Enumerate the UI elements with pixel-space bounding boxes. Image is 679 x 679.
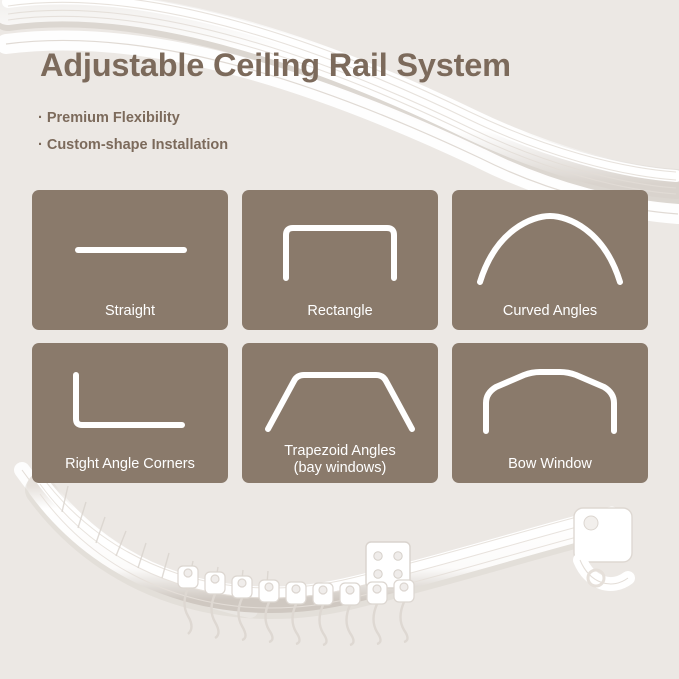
shape-card-curved-angles[interactable]: Curved Angles [452, 190, 648, 330]
product-infographic: Adjustable Ceiling Rail System · Premium… [0, 0, 679, 679]
shape-card-label: Bow Window [452, 456, 648, 473]
bottom-rail [22, 470, 632, 645]
shape-card-label: Curved Angles [452, 303, 648, 320]
shape-card-label: Rectangle [242, 303, 438, 320]
feature-bullet-2: · Custom-shape Installation [38, 137, 228, 153]
top-rail [6, 0, 678, 214]
shape-options-grid: Straight Rectangle Curved Angles Right A… [32, 190, 648, 483]
shape-card-straight[interactable]: Straight [32, 190, 228, 330]
shape-card-label: Right Angle Corners [32, 456, 228, 473]
shape-card-bow-window[interactable]: Bow Window [452, 343, 648, 483]
shape-card-rectangle[interactable]: Rectangle [242, 190, 438, 330]
center-mounting-bracket [366, 542, 410, 588]
shape-card-right-angle-corners[interactable]: Right Angle Corners [32, 343, 228, 483]
feature-bullet-1: · Premium Flexibility [38, 110, 180, 126]
shape-card-trapezoid-angles[interactable]: Trapezoid Angles (bay windows) [242, 343, 438, 483]
shape-card-label: Trapezoid Angles (bay windows) [242, 443, 438, 477]
rail-carriers [178, 566, 414, 605]
rail-end-cap [574, 508, 632, 586]
page-title: Adjustable Ceiling Rail System [40, 47, 511, 84]
shape-card-label: Straight [32, 303, 228, 320]
rail-hooks [185, 588, 408, 645]
